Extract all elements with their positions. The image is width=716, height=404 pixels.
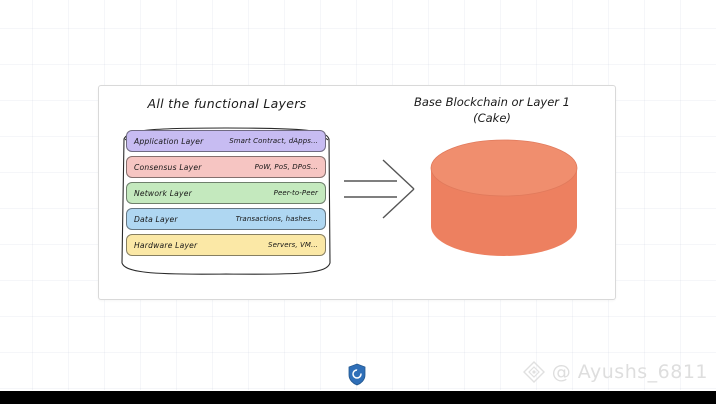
right-panel-title-line2: (Cake) (377, 110, 607, 126)
diamond-logo-icon (522, 360, 546, 384)
layer-row[interactable]: Data Layer Transactions, hashes... (126, 208, 326, 230)
shield-icon[interactable] (347, 363, 367, 386)
bottom-bar (0, 391, 716, 404)
layer-name: Application Layer (134, 137, 203, 146)
blockchain-cylinder (429, 138, 579, 258)
layer-desc: Peer-to-Peer (274, 189, 318, 197)
layer-row[interactable]: Application Layer Smart Contract, dApps.… (126, 130, 326, 152)
left-panel-title: All the functional Layers (117, 96, 337, 111)
layer-desc: Transactions, hashes... (236, 215, 318, 223)
screenshot-root: All the functional Layers Application La… (0, 0, 716, 404)
layer-desc: Smart Contract, dApps... (229, 137, 318, 145)
layer-name: Network Layer (134, 189, 192, 198)
layer-desc: Servers, VM... (268, 241, 318, 249)
diagram-card: All the functional Layers Application La… (98, 85, 616, 300)
right-panel-title: Base Blockchain or Layer 1 (Cake) (377, 94, 607, 126)
arrow-right-icon (342, 158, 426, 220)
layer-row[interactable]: Network Layer Peer-to-Peer (126, 182, 326, 204)
watermark-handle: @ Ayushs_6811 (552, 361, 708, 383)
layer-name: Consensus Layer (134, 163, 202, 172)
layer-row[interactable]: Hardware Layer Servers, VM... (126, 234, 326, 256)
right-panel-title-line1: Base Blockchain or Layer 1 (377, 94, 607, 110)
layer-name: Hardware Layer (134, 241, 197, 250)
layer-stack: Application Layer Smart Contract, dApps.… (126, 130, 326, 256)
watermark: @ Ayushs_6811 (522, 360, 708, 384)
layer-desc: PoW, PoS, DPoS... (255, 163, 318, 171)
layer-row[interactable]: Consensus Layer PoW, PoS, DPoS... (126, 156, 326, 178)
layer-name: Data Layer (134, 215, 178, 224)
